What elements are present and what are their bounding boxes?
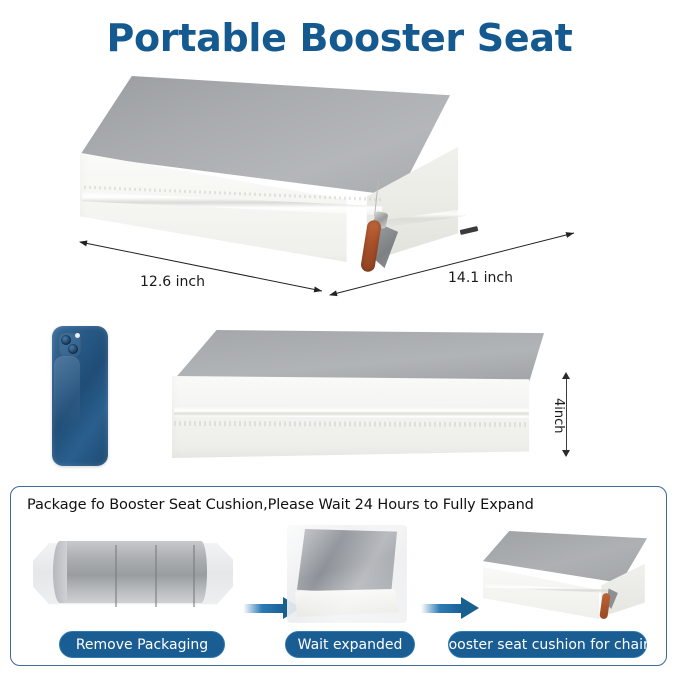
smartphone-scale-reference bbox=[52, 326, 108, 466]
flat-cushion-bag-image bbox=[287, 525, 407, 623]
package-step-buttons: Remove Packaging Wait expanded Booster s… bbox=[11, 631, 668, 659]
product-infographic: Portable Booster Seat bbox=[0, 0, 679, 679]
package-caption: Package fo Booster Seat Cushion,Please W… bbox=[27, 497, 534, 513]
dimension-height-label: 4inch bbox=[551, 398, 566, 434]
page-title: Portable Booster Seat bbox=[0, 16, 679, 60]
package-instructions-panel: Package fo Booster Seat Cushion,Please W… bbox=[10, 486, 667, 666]
arrow-shaft bbox=[421, 604, 463, 613]
mini-zipper-leather-pull bbox=[599, 593, 611, 620]
phone-gloss bbox=[54, 356, 80, 456]
rolled-cushion-body bbox=[59, 541, 207, 603]
cushion-side-view bbox=[162, 330, 554, 460]
camera-lens-icon bbox=[68, 344, 78, 354]
roll-crease bbox=[115, 545, 117, 607]
expanded-cushion-image bbox=[477, 531, 657, 621]
camera-lens-icon bbox=[61, 335, 71, 345]
rolled-cushion-image bbox=[33, 537, 233, 609]
package-step-2 bbox=[273, 523, 423, 623]
scale-comparison-row bbox=[0, 318, 679, 476]
hero-product-image bbox=[68, 72, 528, 287]
cushion-side-top-surface bbox=[172, 330, 544, 382]
side-label-tag bbox=[460, 226, 479, 235]
package-step-3 bbox=[459, 523, 659, 623]
roll-crease bbox=[155, 545, 157, 607]
cushion-isometric bbox=[68, 72, 528, 287]
step-button-wait-expanded[interactable]: Wait expanded bbox=[285, 631, 415, 658]
package-steps bbox=[11, 523, 668, 631]
dimension-arrow-up-icon bbox=[562, 372, 570, 379]
camera-flash-icon bbox=[75, 333, 80, 338]
roll-end-cap bbox=[53, 541, 67, 603]
plastic-sheen bbox=[287, 525, 407, 623]
roll-crease bbox=[193, 545, 195, 607]
dimension-height-line bbox=[566, 378, 567, 456]
dimension-arrow-down-icon bbox=[562, 450, 570, 457]
step-button-remove-packaging[interactable]: Remove Packaging bbox=[59, 631, 225, 658]
step-button-booster-seat-cushion[interactable]: Booster seat cushion for chairs bbox=[448, 631, 647, 658]
package-step-1 bbox=[25, 523, 240, 623]
